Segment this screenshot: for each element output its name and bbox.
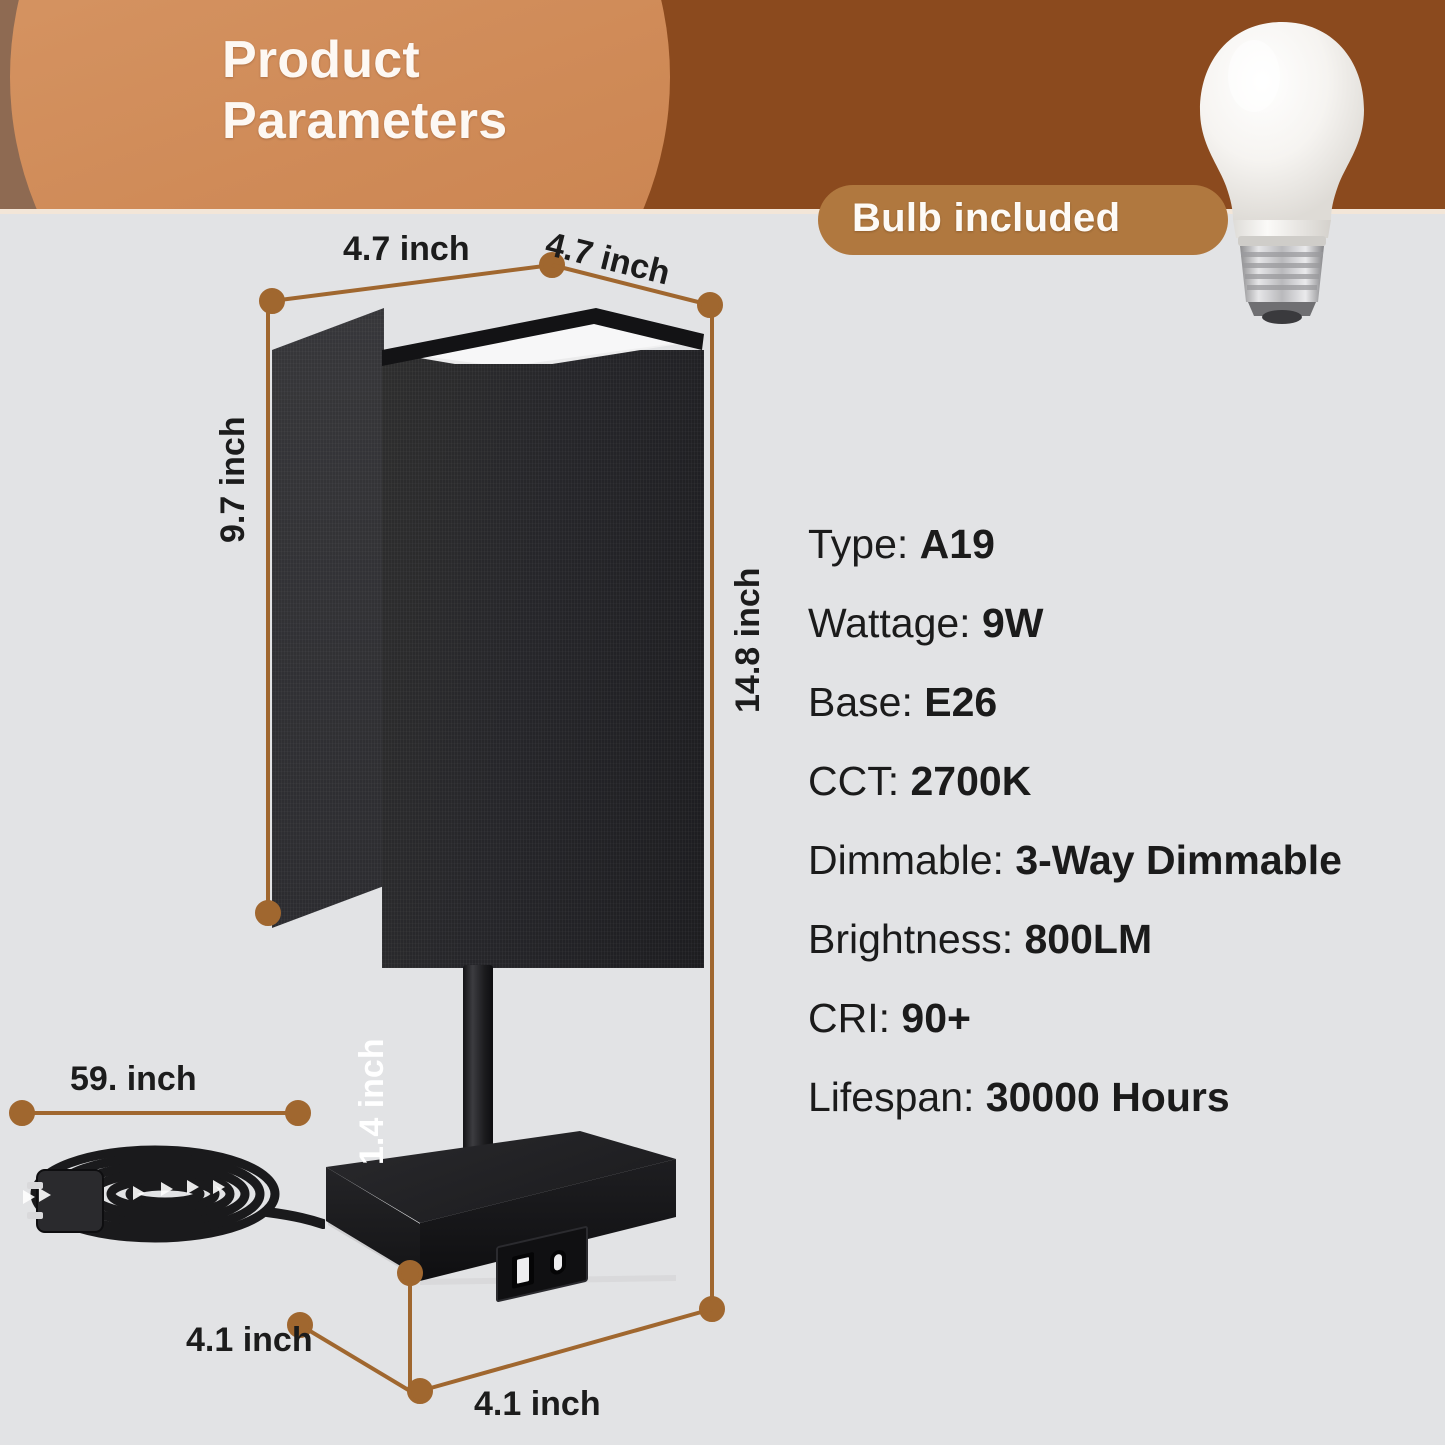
spec-row-base: Base: E26 [808, 682, 1428, 723]
dimension-label-base-depth: 4.1 inch [186, 1321, 313, 1360]
dimension-lines [0, 213, 800, 1445]
dimension-label-base-width: 4.1 inch [474, 1385, 601, 1424]
spec-row-lifespan: Lifespan: 30000 Hours [808, 1077, 1428, 1118]
spec-value-wattage: 9W [982, 600, 1044, 646]
spec-value-type: A19 [920, 521, 995, 567]
spec-value-lifespan: 30000 Hours [986, 1074, 1230, 1120]
dimension-label-shade-height: 9.7 inch [214, 416, 253, 543]
dimension-label-cord-length: 59. inch [70, 1060, 197, 1099]
spec-row-cct: CCT: 2700K [808, 761, 1428, 802]
page-title: Product Parameters [222, 30, 507, 153]
spec-value-brightness: 800LM [1025, 916, 1153, 962]
spec-label-brightness: Brightness: [808, 916, 1025, 962]
spec-row-wattage: Wattage: 9W [808, 603, 1428, 644]
dimension-label-base-height: 1.4 inch [353, 1038, 392, 1165]
spec-label-type: Type: [808, 521, 920, 567]
spec-row-dimmable: Dimmable: 3-Way Dimmable [808, 840, 1428, 881]
spec-value-dimmable: 3-Way Dimmable [1015, 837, 1342, 883]
spec-row-brightness: Brightness: 800LM [808, 919, 1428, 960]
spec-value-base: E26 [924, 679, 997, 725]
spec-row-cri: CRI: 90+ [808, 998, 1428, 1039]
spec-value-cct: 2700K [911, 758, 1032, 804]
bulb-included-label: Bulb included [852, 196, 1120, 241]
spec-label-wattage: Wattage: [808, 600, 982, 646]
spec-label-cct: CCT: [808, 758, 911, 804]
spec-label-base: Base: [808, 679, 924, 725]
spec-row-type: Type: A19 [808, 524, 1428, 565]
bulb-specifications-list: Type: A19 Wattage: 9W Base: E26 CCT: 270… [808, 524, 1428, 1118]
spec-value-cri: 90+ [901, 995, 971, 1041]
dimension-label-total-height: 14.8 inch [729, 567, 768, 713]
spec-label-dimmable: Dimmable: [808, 837, 1015, 883]
light-bulb-icon [1192, 14, 1372, 324]
dimension-label-shade-width-front: 4.7 inch [343, 230, 470, 269]
spec-label-cri: CRI: [808, 995, 901, 1041]
product-dimension-diagram: 4.7 inch 4.7 inch 9.7 inch 14.8 inch 59.… [0, 213, 800, 1445]
spec-label-lifespan: Lifespan: [808, 1074, 986, 1120]
